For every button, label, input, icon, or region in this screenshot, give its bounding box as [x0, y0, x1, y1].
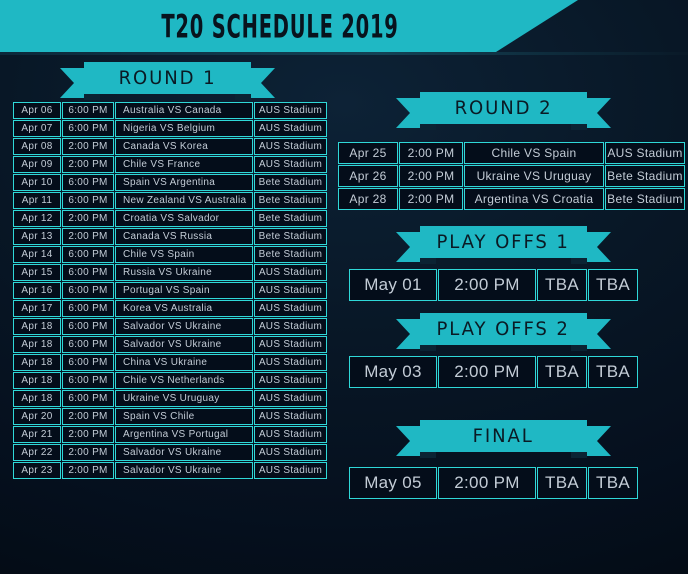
table-row: Apr 092:00 PMChile VS FranceAUS Stadium — [13, 156, 327, 173]
table-row: Apr 176:00 PMKorea VS AustraliaAUS Stadi… — [13, 300, 327, 317]
cell-stadium: AUS Stadium — [254, 300, 327, 317]
table-row: Apr 146:00 PMChile VS SpainBete Stadium — [13, 246, 327, 263]
cell-tba2: TBA — [588, 356, 638, 388]
cell-stadium: Bete Stadium — [254, 228, 327, 245]
header-underline — [0, 52, 688, 55]
cell-time: 6:00 PM — [62, 300, 114, 317]
cell-tba2: TBA — [588, 467, 638, 499]
table-row: Apr 122:00 PMCroatia VS SalvadorBete Sta… — [13, 210, 327, 227]
cell-date: Apr 10 — [13, 174, 61, 191]
cell-stadium: AUS Stadium — [254, 444, 327, 461]
cell-time: 2:00 PM — [62, 444, 114, 461]
page-title: T20 SCHEDULE 2019 — [62, 0, 499, 59]
table-row: Apr 186:00 PMChina VS UkraineAUS Stadium — [13, 354, 327, 371]
schedule-table-final: May 052:00 PMTBATBA — [348, 466, 639, 500]
cell-match: Chile VS France — [115, 156, 253, 173]
table-row: Apr 186:00 PMSalvador VS UkraineAUS Stad… — [13, 318, 327, 335]
cell-time: 2:00 PM — [62, 408, 114, 425]
cell-stadium: AUS Stadium — [254, 372, 327, 389]
cell-stadium: AUS Stadium — [254, 462, 327, 479]
table-row: Apr 202:00 PMSpain VS ChileAUS Stadium — [13, 408, 327, 425]
table-row: Apr 186:00 PMUkraine VS UruguayAUS Stadi… — [13, 390, 327, 407]
cell-time: 2:00 PM — [62, 462, 114, 479]
table-row: May 052:00 PMTBATBA — [349, 467, 638, 499]
cell-time: 6:00 PM — [62, 318, 114, 335]
table-row: Apr 066:00 PMAustralia VS CanadaAUS Stad… — [13, 102, 327, 119]
cell-match: Russia VS Ukraine — [115, 264, 253, 281]
cell-stadium: Bete Stadium — [254, 192, 327, 209]
cell-time: 2:00 PM — [399, 188, 463, 210]
cell-stadium: AUS Stadium — [254, 282, 327, 299]
cell-match: Nigeria VS Belgium — [115, 120, 253, 137]
cell-tba2: TBA — [588, 269, 638, 301]
header-banner: T20 SCHEDULE 2019 — [0, 0, 688, 52]
cell-time: 2:00 PM — [62, 228, 114, 245]
table-row: Apr 156:00 PMRussia VS UkraineAUS Stadiu… — [13, 264, 327, 281]
cell-date: Apr 18 — [13, 390, 61, 407]
cell-date: Apr 26 — [338, 165, 398, 187]
cell-date: Apr 18 — [13, 318, 61, 335]
cell-stadium: AUS Stadium — [254, 408, 327, 425]
table-row: Apr 282:00 PMArgentina VS CroatiaBete St… — [338, 188, 685, 210]
ribbon-playoffs2: PLAY OFFS 2 — [396, 313, 611, 351]
cell-date: Apr 18 — [13, 372, 61, 389]
cell-date: Apr 22 — [13, 444, 61, 461]
table-row: Apr 116:00 PMNew Zealand VS AustraliaBet… — [13, 192, 327, 209]
cell-stadium: AUS Stadium — [254, 426, 327, 443]
cell-match: Spain VS Argentina — [115, 174, 253, 191]
cell-match: China VS Ukraine — [115, 354, 253, 371]
cell-match: Canada VS Russia — [115, 228, 253, 245]
cell-stadium: Bete Stadium — [605, 188, 685, 210]
table-row: Apr 166:00 PMPortugal VS SpainAUS Stadiu… — [13, 282, 327, 299]
cell-match: Salvador VS Ukraine — [115, 444, 253, 461]
cell-date: Apr 06 — [13, 102, 61, 119]
cell-stadium: AUS Stadium — [605, 142, 685, 164]
cell-stadium: Bete Stadium — [605, 165, 685, 187]
table-body: May 012:00 PMTBATBA — [349, 269, 638, 301]
cell-time: 6:00 PM — [62, 192, 114, 209]
cell-time: 2:00 PM — [399, 142, 463, 164]
ribbon-label-round2: ROUND 2 — [455, 97, 553, 119]
table-row: Apr 252:00 PMChile VS SpainAUS Stadium — [338, 142, 685, 164]
table-row: Apr 132:00 PMCanada VS RussiaBete Stadiu… — [13, 228, 327, 245]
cell-match: Ukraine VS Uruguay — [464, 165, 604, 187]
cell-time: 2:00 PM — [62, 156, 114, 173]
cell-time: 6:00 PM — [62, 354, 114, 371]
ribbon-final: FINAL — [396, 420, 611, 458]
cell-date: Apr 09 — [13, 156, 61, 173]
ribbon-label-final: FINAL — [473, 425, 534, 447]
cell-stadium: Bete Stadium — [254, 174, 327, 191]
cell-date: Apr 15 — [13, 264, 61, 281]
cell-date: Apr 18 — [13, 336, 61, 353]
cell-stadium: AUS Stadium — [254, 264, 327, 281]
cell-time: 2:00 PM — [399, 165, 463, 187]
cell-time: 6:00 PM — [62, 102, 114, 119]
cell-match: Salvador VS Ukraine — [115, 318, 253, 335]
cell-time: 2:00 PM — [438, 269, 536, 301]
cell-date: Apr 20 — [13, 408, 61, 425]
table-body: May 052:00 PMTBATBA — [349, 467, 638, 499]
cell-date: Apr 08 — [13, 138, 61, 155]
cell-time: 2:00 PM — [62, 138, 114, 155]
table-row: Apr 222:00 PMSalvador VS UkraineAUS Stad… — [13, 444, 327, 461]
cell-stadium: AUS Stadium — [254, 120, 327, 137]
cell-time: 6:00 PM — [62, 246, 114, 263]
table-row: Apr 082:00 PMCanada VS KoreaAUS Stadium — [13, 138, 327, 155]
cell-time: 6:00 PM — [62, 264, 114, 281]
cell-match: Chile VS Spain — [464, 142, 604, 164]
cell-date: Apr 12 — [13, 210, 61, 227]
cell-date: May 01 — [349, 269, 437, 301]
cell-match: Argentina VS Portugal — [115, 426, 253, 443]
ribbon-plate: PLAY OFFS 1 — [420, 226, 587, 258]
table-row: Apr 262:00 PMUkraine VS UruguayBete Stad… — [338, 165, 685, 187]
cell-match: Portugal VS Spain — [115, 282, 253, 299]
table-row: Apr 186:00 PMChile VS NetherlandsAUS Sta… — [13, 372, 327, 389]
cell-date: Apr 16 — [13, 282, 61, 299]
cell-match: New Zealand VS Australia — [115, 192, 253, 209]
table-row: May 012:00 PMTBATBA — [349, 269, 638, 301]
schedule-table-playoffs2: May 032:00 PMTBATBA — [348, 355, 639, 389]
cell-date: May 03 — [349, 356, 437, 388]
table-body: May 032:00 PMTBATBA — [349, 356, 638, 388]
table-row: Apr 212:00 PMArgentina VS PortugalAUS St… — [13, 426, 327, 443]
ribbon-label-round1: ROUND 1 — [119, 67, 217, 89]
cell-tba: TBA — [537, 356, 587, 388]
cell-tba: TBA — [537, 467, 587, 499]
cell-match: Salvador VS Ukraine — [115, 336, 253, 353]
table-row: Apr 076:00 PMNigeria VS BelgiumAUS Stadi… — [13, 120, 327, 137]
cell-date: Apr 18 — [13, 354, 61, 371]
table-row: Apr 106:00 PMSpain VS ArgentinaBete Stad… — [13, 174, 327, 191]
table-row: May 032:00 PMTBATBA — [349, 356, 638, 388]
ribbon-label-playoffs1: PLAY OFFS 1 — [437, 231, 570, 253]
cell-stadium: Bete Stadium — [254, 210, 327, 227]
ribbon-plate: FINAL — [420, 420, 587, 452]
cell-stadium: AUS Stadium — [254, 156, 327, 173]
schedule-table-round1: Apr 066:00 PMAustralia VS CanadaAUS Stad… — [12, 101, 328, 480]
ribbon-plate: ROUND 2 — [420, 92, 587, 124]
cell-time: 6:00 PM — [62, 390, 114, 407]
cell-time: 6:00 PM — [62, 120, 114, 137]
cell-match: Salvador VS Ukraine — [115, 462, 253, 479]
cell-match: Korea VS Australia — [115, 300, 253, 317]
cell-date: Apr 23 — [13, 462, 61, 479]
cell-time: 2:00 PM — [438, 467, 536, 499]
cell-time: 6:00 PM — [62, 336, 114, 353]
cell-time: 6:00 PM — [62, 282, 114, 299]
cell-match: Chile VS Netherlands — [115, 372, 253, 389]
cell-match: Argentina VS Croatia — [464, 188, 604, 210]
table-body: Apr 066:00 PMAustralia VS CanadaAUS Stad… — [13, 102, 327, 479]
ribbon-plate: ROUND 1 — [84, 62, 251, 94]
cell-time: 2:00 PM — [438, 356, 536, 388]
cell-stadium: AUS Stadium — [254, 138, 327, 155]
cell-date: Apr 21 — [13, 426, 61, 443]
cell-time: 2:00 PM — [62, 426, 114, 443]
cell-match: Chile VS Spain — [115, 246, 253, 263]
cell-date: May 05 — [349, 467, 437, 499]
cell-date: Apr 07 — [13, 120, 61, 137]
table-body: Apr 252:00 PMChile VS SpainAUS StadiumAp… — [338, 142, 685, 210]
cell-date: Apr 13 — [13, 228, 61, 245]
cell-stadium: AUS Stadium — [254, 390, 327, 407]
cell-date: Apr 28 — [338, 188, 398, 210]
cell-time: 6:00 PM — [62, 174, 114, 191]
cell-stadium: AUS Stadium — [254, 318, 327, 335]
cell-stadium: AUS Stadium — [254, 336, 327, 353]
cell-match: Ukraine VS Uruguay — [115, 390, 253, 407]
table-row: Apr 232:00 PMSalvador VS UkraineAUS Stad… — [13, 462, 327, 479]
ribbon-round2: ROUND 2 — [396, 92, 611, 130]
ribbon-round1: ROUND 1 — [60, 62, 275, 100]
cell-date: Apr 14 — [13, 246, 61, 263]
cell-stadium: AUS Stadium — [254, 102, 327, 119]
cell-match: Australia VS Canada — [115, 102, 253, 119]
cell-date: Apr 17 — [13, 300, 61, 317]
schedule-table-round2: Apr 252:00 PMChile VS SpainAUS StadiumAp… — [337, 141, 686, 211]
cell-stadium: AUS Stadium — [254, 354, 327, 371]
cell-stadium: Bete Stadium — [254, 246, 327, 263]
table-row: Apr 186:00 PMSalvador VS UkraineAUS Stad… — [13, 336, 327, 353]
cell-date: Apr 11 — [13, 192, 61, 209]
cell-time: 6:00 PM — [62, 372, 114, 389]
ribbon-plate: PLAY OFFS 2 — [420, 313, 587, 345]
schedule-table-playoffs1: May 012:00 PMTBATBA — [348, 268, 639, 302]
ribbon-label-playoffs2: PLAY OFFS 2 — [437, 318, 570, 340]
cell-match: Croatia VS Salvador — [115, 210, 253, 227]
cell-tba: TBA — [537, 269, 587, 301]
ribbon-playoffs1: PLAY OFFS 1 — [396, 226, 611, 264]
cell-date: Apr 25 — [338, 142, 398, 164]
cell-time: 2:00 PM — [62, 210, 114, 227]
cell-match: Spain VS Chile — [115, 408, 253, 425]
cell-match: Canada VS Korea — [115, 138, 253, 155]
